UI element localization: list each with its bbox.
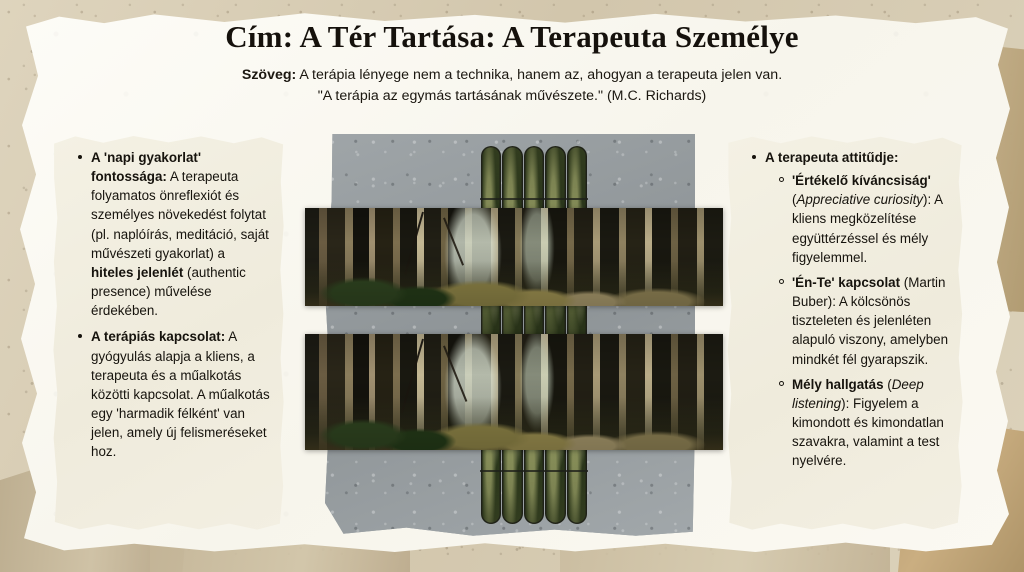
right-sub-bullet-list: 'Értékelő kíváncsiság' (Appreciative cur… [765, 171, 950, 470]
list-item: A 'napi gyakorlat' fontossága: A terapeu… [78, 148, 271, 320]
sub-bullet-pre: ( [884, 377, 892, 392]
bullet-lead: A terapeuta attitűdje: [765, 150, 898, 165]
slide-canvas: Cím: A Tér Tartása: A Terapeuta Személye… [0, 0, 1024, 572]
list-item: A terápiás kapcsolat: A gyógyulás alapja… [78, 327, 271, 461]
sub-bullet-italic: Appreciative curiosity [796, 192, 923, 207]
bullet-text-a: A gyógyulás alapja a kliens, a terapeuta… [91, 329, 270, 459]
list-item: A terapeuta attitűdje: 'Értékelő kíváncs… [752, 148, 950, 471]
sub-bullet-lead: 'Én-Te' kapcsolat [792, 275, 900, 290]
photo-shading [305, 334, 723, 450]
window-mullion [480, 198, 588, 200]
sub-bullet-lead: Mély hallgatás [792, 377, 884, 392]
list-item: Mély hallgatás (Deep listening): Figyele… [779, 375, 950, 471]
right-bullet-list: A terapeuta attitűdje: 'Értékelő kíváncs… [736, 148, 950, 471]
slide-header: Cím: A Tér Tartása: A Terapeuta Személye… [0, 18, 1024, 106]
photo-shading [305, 208, 723, 306]
left-text-card: A 'napi gyakorlat' fontossága: A terapeu… [52, 134, 285, 534]
forest-photo-strip-upper [305, 208, 723, 306]
subtitle-line-1: A terápia lényege nem a technika, hanem … [296, 67, 782, 83]
window-mullion [480, 470, 588, 472]
list-item: 'Én-Te' kapcsolat (Martin Buber): A kölc… [779, 273, 950, 369]
centre-collage [300, 128, 720, 558]
sub-bullet-lead: 'Értékelő kíváncsiság' [792, 173, 931, 188]
right-text-card: A terapeuta attitűdje: 'Értékelő kíváncs… [726, 134, 964, 534]
forest-photo-strip-lower [305, 334, 723, 450]
left-bullet-list: A 'napi gyakorlat' fontossága: A terapeu… [62, 148, 271, 462]
list-item: 'Értékelő kíváncsiság' (Appreciative cur… [779, 171, 950, 267]
subtitle-label: Szöveg: [242, 67, 296, 83]
bullet-bold-mid: hiteles jelenlét [91, 265, 183, 280]
bullet-lead: A terápiás kapcsolat: [91, 329, 225, 344]
subtitle-line-2: "A terápia az egymás tartásának művészet… [162, 86, 862, 107]
page-title: Cím: A Tér Tartása: A Terapeuta Személye [0, 18, 1024, 55]
slide-subtitle: Szöveg: A terápia lényege nem a technika… [162, 65, 862, 106]
